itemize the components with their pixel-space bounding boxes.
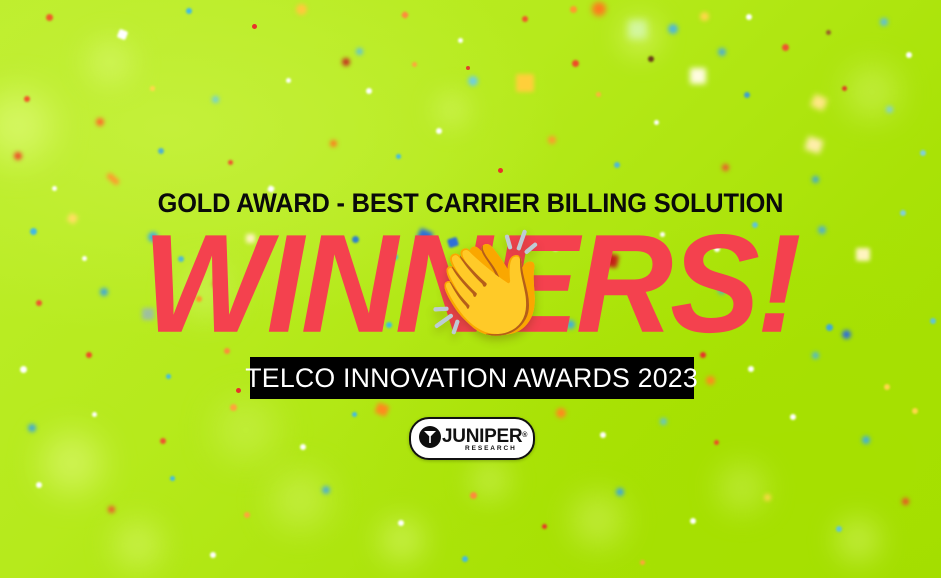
award-poster: GOLD AWARD - BEST CARRIER BILLING SOLUTI… bbox=[0, 0, 941, 578]
awards-banner: TELCO INNOVATION AWARDS 2023 bbox=[250, 357, 694, 399]
poster-content: GOLD AWARD - BEST CARRIER BILLING SOLUTI… bbox=[0, 0, 941, 578]
juniper-research-subtext: RESEARCH bbox=[465, 445, 517, 452]
awards-banner-text: TELCO INNOVATION AWARDS 2023 bbox=[246, 363, 699, 394]
juniper-circle-mark bbox=[419, 426, 441, 448]
juniper-research-logo: JUNIPER® RESEARCH bbox=[409, 417, 535, 460]
clapping-hands-emoji: 👏 bbox=[424, 232, 534, 342]
registered-trademark-icon: ® bbox=[522, 426, 527, 445]
juniper-wordmark-text: JUNIPER bbox=[442, 426, 522, 447]
juniper-wordmark: JUNIPER® bbox=[442, 427, 522, 446]
